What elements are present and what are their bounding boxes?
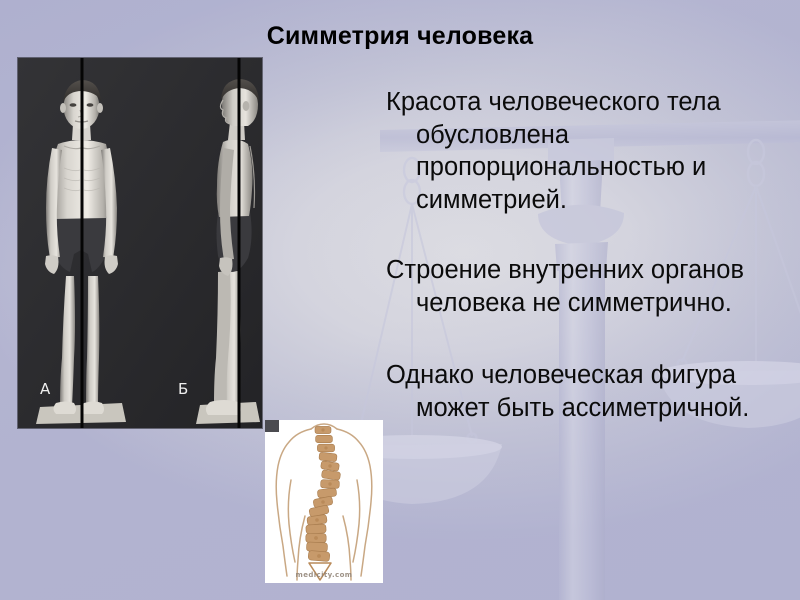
paragraph-2: Строение внутренних органов человека не …: [386, 254, 790, 319]
slide-canvas: Симметрия человека: [0, 0, 800, 600]
paragraph-1: Красота человеческого тела обусловлена п…: [386, 86, 790, 216]
scoliosis-illustration: medicity.com: [265, 420, 383, 583]
symmetry-photo: А Б: [18, 58, 262, 428]
slide-title: Симметрия человека: [0, 22, 800, 51]
spine-watermark: medicity.com: [265, 571, 383, 579]
photo-label-side: Б: [178, 380, 188, 398]
paragraph-3: Однако человеческая фигура может быть ас…: [386, 359, 790, 424]
photo-label-front: А: [40, 380, 51, 398]
body-text-block: Красота человеческого тела обусловлена п…: [386, 86, 790, 424]
